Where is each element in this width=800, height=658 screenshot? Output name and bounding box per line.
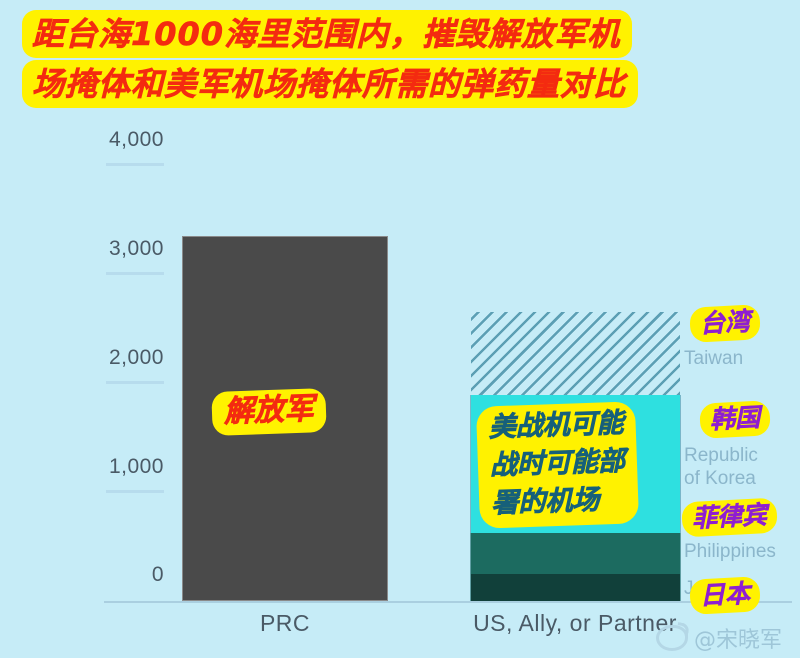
chart-canvas: 4,000 3,000 2,000 1,000 0 PRC US, Ally, … xyxy=(0,0,800,658)
title-overlay: 距台海1000海里范围内，摧毁解放军机 场掩体和美军机场掩体所需的弹药量对比 xyxy=(22,10,782,110)
ytick-label-2000: 2,000 xyxy=(86,346,164,370)
title-line-2: 场掩体和美军机场掩体所需的弹药量对比 xyxy=(22,60,638,108)
annotation-us-airbases-line3: 署的机场 xyxy=(491,481,627,524)
ytick-label-0: 0 xyxy=(86,563,164,587)
ytick-label-4000: 4,000 xyxy=(86,128,164,152)
ytick-line-1000 xyxy=(106,490,164,493)
title-line-1: 距台海1000海里范围内，摧毁解放军机 xyxy=(22,10,632,58)
weibo-icon xyxy=(656,625,688,651)
ytick-label-3000: 3,000 xyxy=(86,237,164,261)
annotation-pla: 解放军 xyxy=(211,388,326,436)
ytick-line-2000 xyxy=(106,381,164,384)
bar-segment-taiwan[interactable] xyxy=(470,312,681,395)
annotation-us-airbases-line1: 美战机可能 xyxy=(488,405,624,448)
watermark-handle: @宋晓军 xyxy=(694,622,782,654)
segment-label-taiwan: Taiwan xyxy=(684,347,743,370)
bar-segment-japan[interactable] xyxy=(470,574,681,601)
ytick-line-4000 xyxy=(106,163,164,166)
segment-label-korea-line2: of Korea xyxy=(684,468,756,489)
bar-segment-philippines[interactable] xyxy=(470,533,681,574)
xlabel-prc: PRC xyxy=(182,610,388,637)
segment-label-republic-of-korea: Republic of Korea xyxy=(684,444,758,490)
x-axis-baseline xyxy=(104,601,792,603)
annotation-korea: 韩国 xyxy=(699,400,771,439)
annotation-us-airbases-line2: 战时可能部 xyxy=(489,443,625,486)
annotation-taiwan: 台湾 xyxy=(689,304,761,343)
annotation-us-airbases: 美战机可能 战时可能部 署的机场 xyxy=(476,401,639,528)
ytick-line-3000 xyxy=(106,272,164,275)
ytick-label-1000: 1,000 xyxy=(86,455,164,479)
segment-label-philippines: Philippines xyxy=(684,540,776,563)
annotation-philippines: 菲律宾 xyxy=(681,498,778,538)
segment-label-korea-line1: Republic xyxy=(684,445,758,466)
watermark: @宋晓军 xyxy=(656,622,782,654)
annotation-japan: 日本 xyxy=(689,576,761,615)
